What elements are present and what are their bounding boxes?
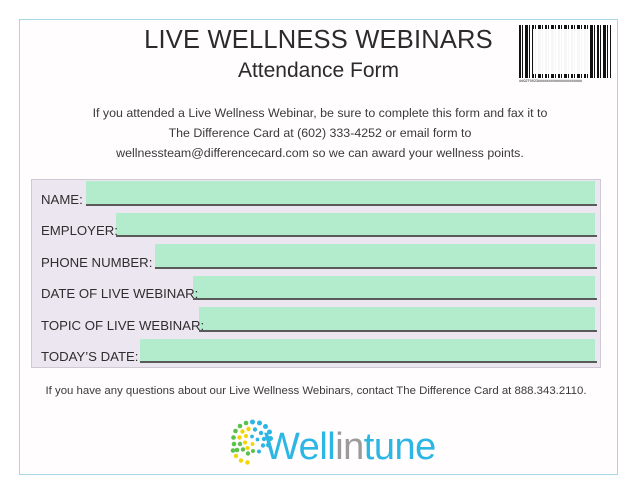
field-input-phone-number[interactable] [155,244,595,267]
field-rule-date-of-live-webinar [193,298,597,300]
form-row-employer: EMPLOYER: [32,212,602,244]
logo-text-in: in [335,426,364,468]
field-rule-topic-of-live-webinar [199,330,597,332]
logo-wordmark: Wellintune [264,425,436,469]
footer-note: If you have any questions about our Live… [31,383,601,399]
form-row-todays-date: TODAY’S DATE: [32,338,602,370]
barcode: ##92T0023##################### [519,25,611,90]
field-label-employer: EMPLOYER: [41,223,118,239]
intro-paragraph: If you attended a Live Wellness Webinar,… [60,103,580,163]
barcode-bars-icon [519,25,611,78]
field-label-date-of-live-webinar: DATE OF LIVE WEBINAR: [41,286,198,302]
field-input-todays-date[interactable] [140,339,595,362]
field-input-employer[interactable] [116,213,595,236]
form-row-topic-of-live-webinar: TOPIC OF LIVE WEBINAR: [32,306,602,338]
barcode-caption: ##92T0023##################### [519,79,611,86]
logo-text-tune: tune [364,426,436,468]
intro-line-1: If you attended a Live Wellness Webinar,… [60,103,580,123]
form-row-phone-number: PHONE NUMBER: [32,243,602,275]
intro-line-3: wellnessteam@differencecard.com so we ca… [60,143,580,163]
field-label-phone-number: PHONE NUMBER: [41,255,152,271]
form-row-date-of-live-webinar: DATE OF LIVE WEBINAR: [32,275,602,307]
barcode-matrix-icon [533,29,590,74]
field-label-name: NAME: [41,192,83,208]
form-row-name: NAME: [32,180,602,212]
field-label-todays-date: TODAY’S DATE: [41,349,138,365]
logo-text-well: Well [264,426,335,468]
field-rule-employer [116,235,597,237]
field-input-name[interactable] [86,181,595,204]
document-page: LIVE WELLNESS WEBINARS Attendance Form #… [0,0,640,495]
form-panel: NAME: EMPLOYER: PHONE NUMBER: DATE OF LI… [31,179,601,368]
intro-line-2: The Difference Card at (602) 333-4252 or… [60,123,580,143]
field-rule-name [86,204,597,206]
field-rule-phone-number [155,267,597,269]
field-input-date-of-live-webinar[interactable] [193,276,595,299]
field-rule-todays-date [140,361,597,363]
field-label-topic-of-live-webinar: TOPIC OF LIVE WEBINAR: [41,318,204,334]
field-input-topic-of-live-webinar[interactable] [199,307,595,330]
wellintune-logo: Wellintune [222,417,422,475]
